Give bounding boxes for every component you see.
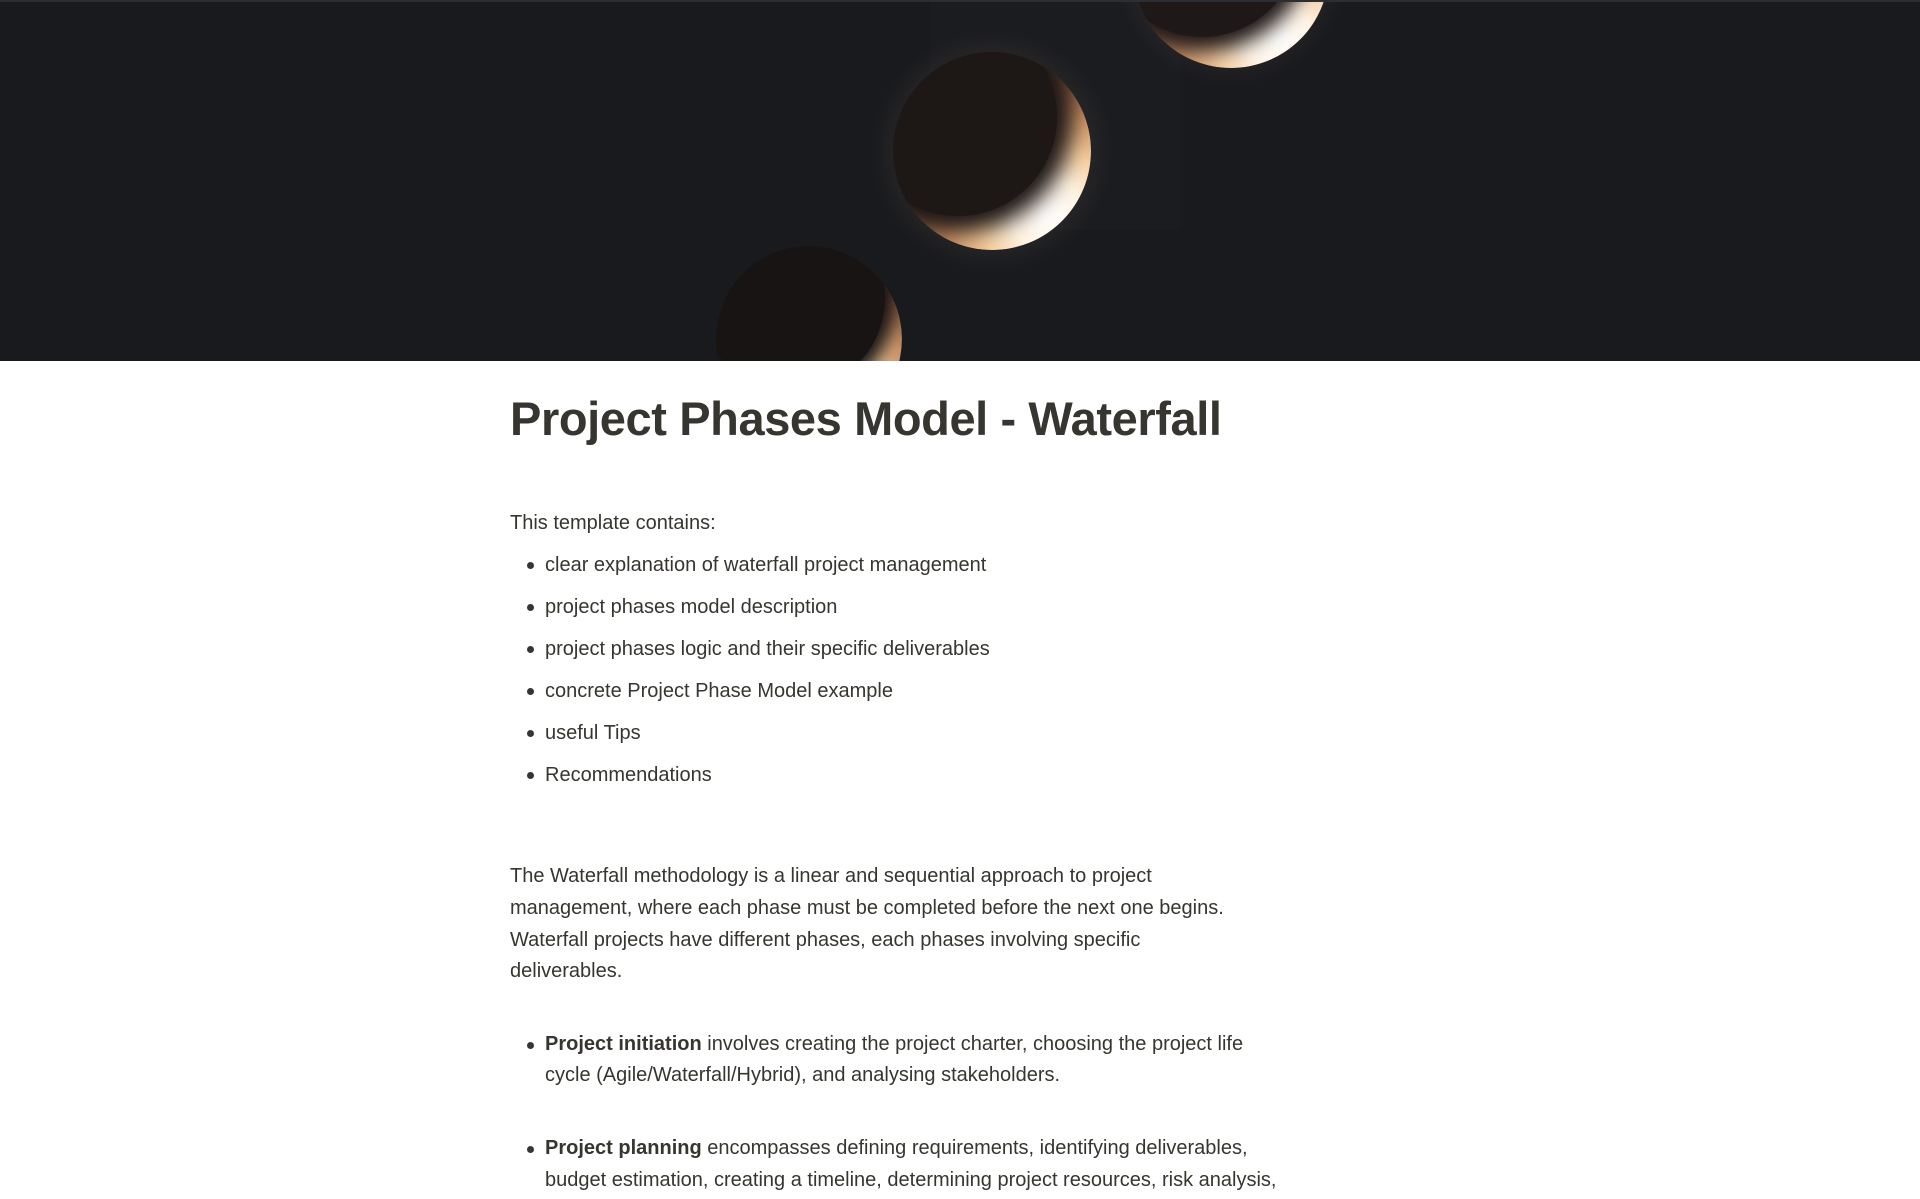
list-item[interactable]: Recommendations [510, 760, 1390, 790]
moon-center-crescent-icon [893, 52, 1091, 250]
page-body: Project Phases Model - Waterfall This te… [0, 361, 1920, 1196]
template-contents-list: clear explanation of waterfall project m… [510, 550, 1390, 790]
list-item[interactable]: Project initiation involves creating the… [510, 1029, 1280, 1092]
phase-lead: Project initiation [545, 1033, 702, 1055]
cover-image [0, 0, 1920, 361]
list-item[interactable]: project phases model description [510, 592, 1390, 622]
list-item[interactable]: Project planning encompasses defining re… [510, 1133, 1280, 1196]
list-item[interactable]: clear explanation of waterfall project m… [510, 550, 1390, 580]
page-title[interactable]: Project Phases Model - Waterfall [510, 361, 1390, 446]
phase-lead: Project planning [545, 1137, 702, 1159]
moon-bottom-left-crescent-icon [716, 246, 902, 361]
project-phases-list: Project initiation involves creating the… [510, 1029, 1390, 1196]
list-item[interactable]: useful Tips [510, 718, 1390, 748]
intro-label[interactable]: This template contains: [510, 446, 1390, 538]
list-item[interactable]: concrete Project Phase Model example [510, 676, 1390, 706]
methodology-paragraph[interactable]: The Waterfall methodology is a linear an… [510, 790, 1240, 987]
content-column: Project Phases Model - Waterfall This te… [510, 361, 1390, 1196]
list-item[interactable]: project phases logic and their specific … [510, 634, 1390, 664]
cover-top-edge [0, 0, 1920, 2]
